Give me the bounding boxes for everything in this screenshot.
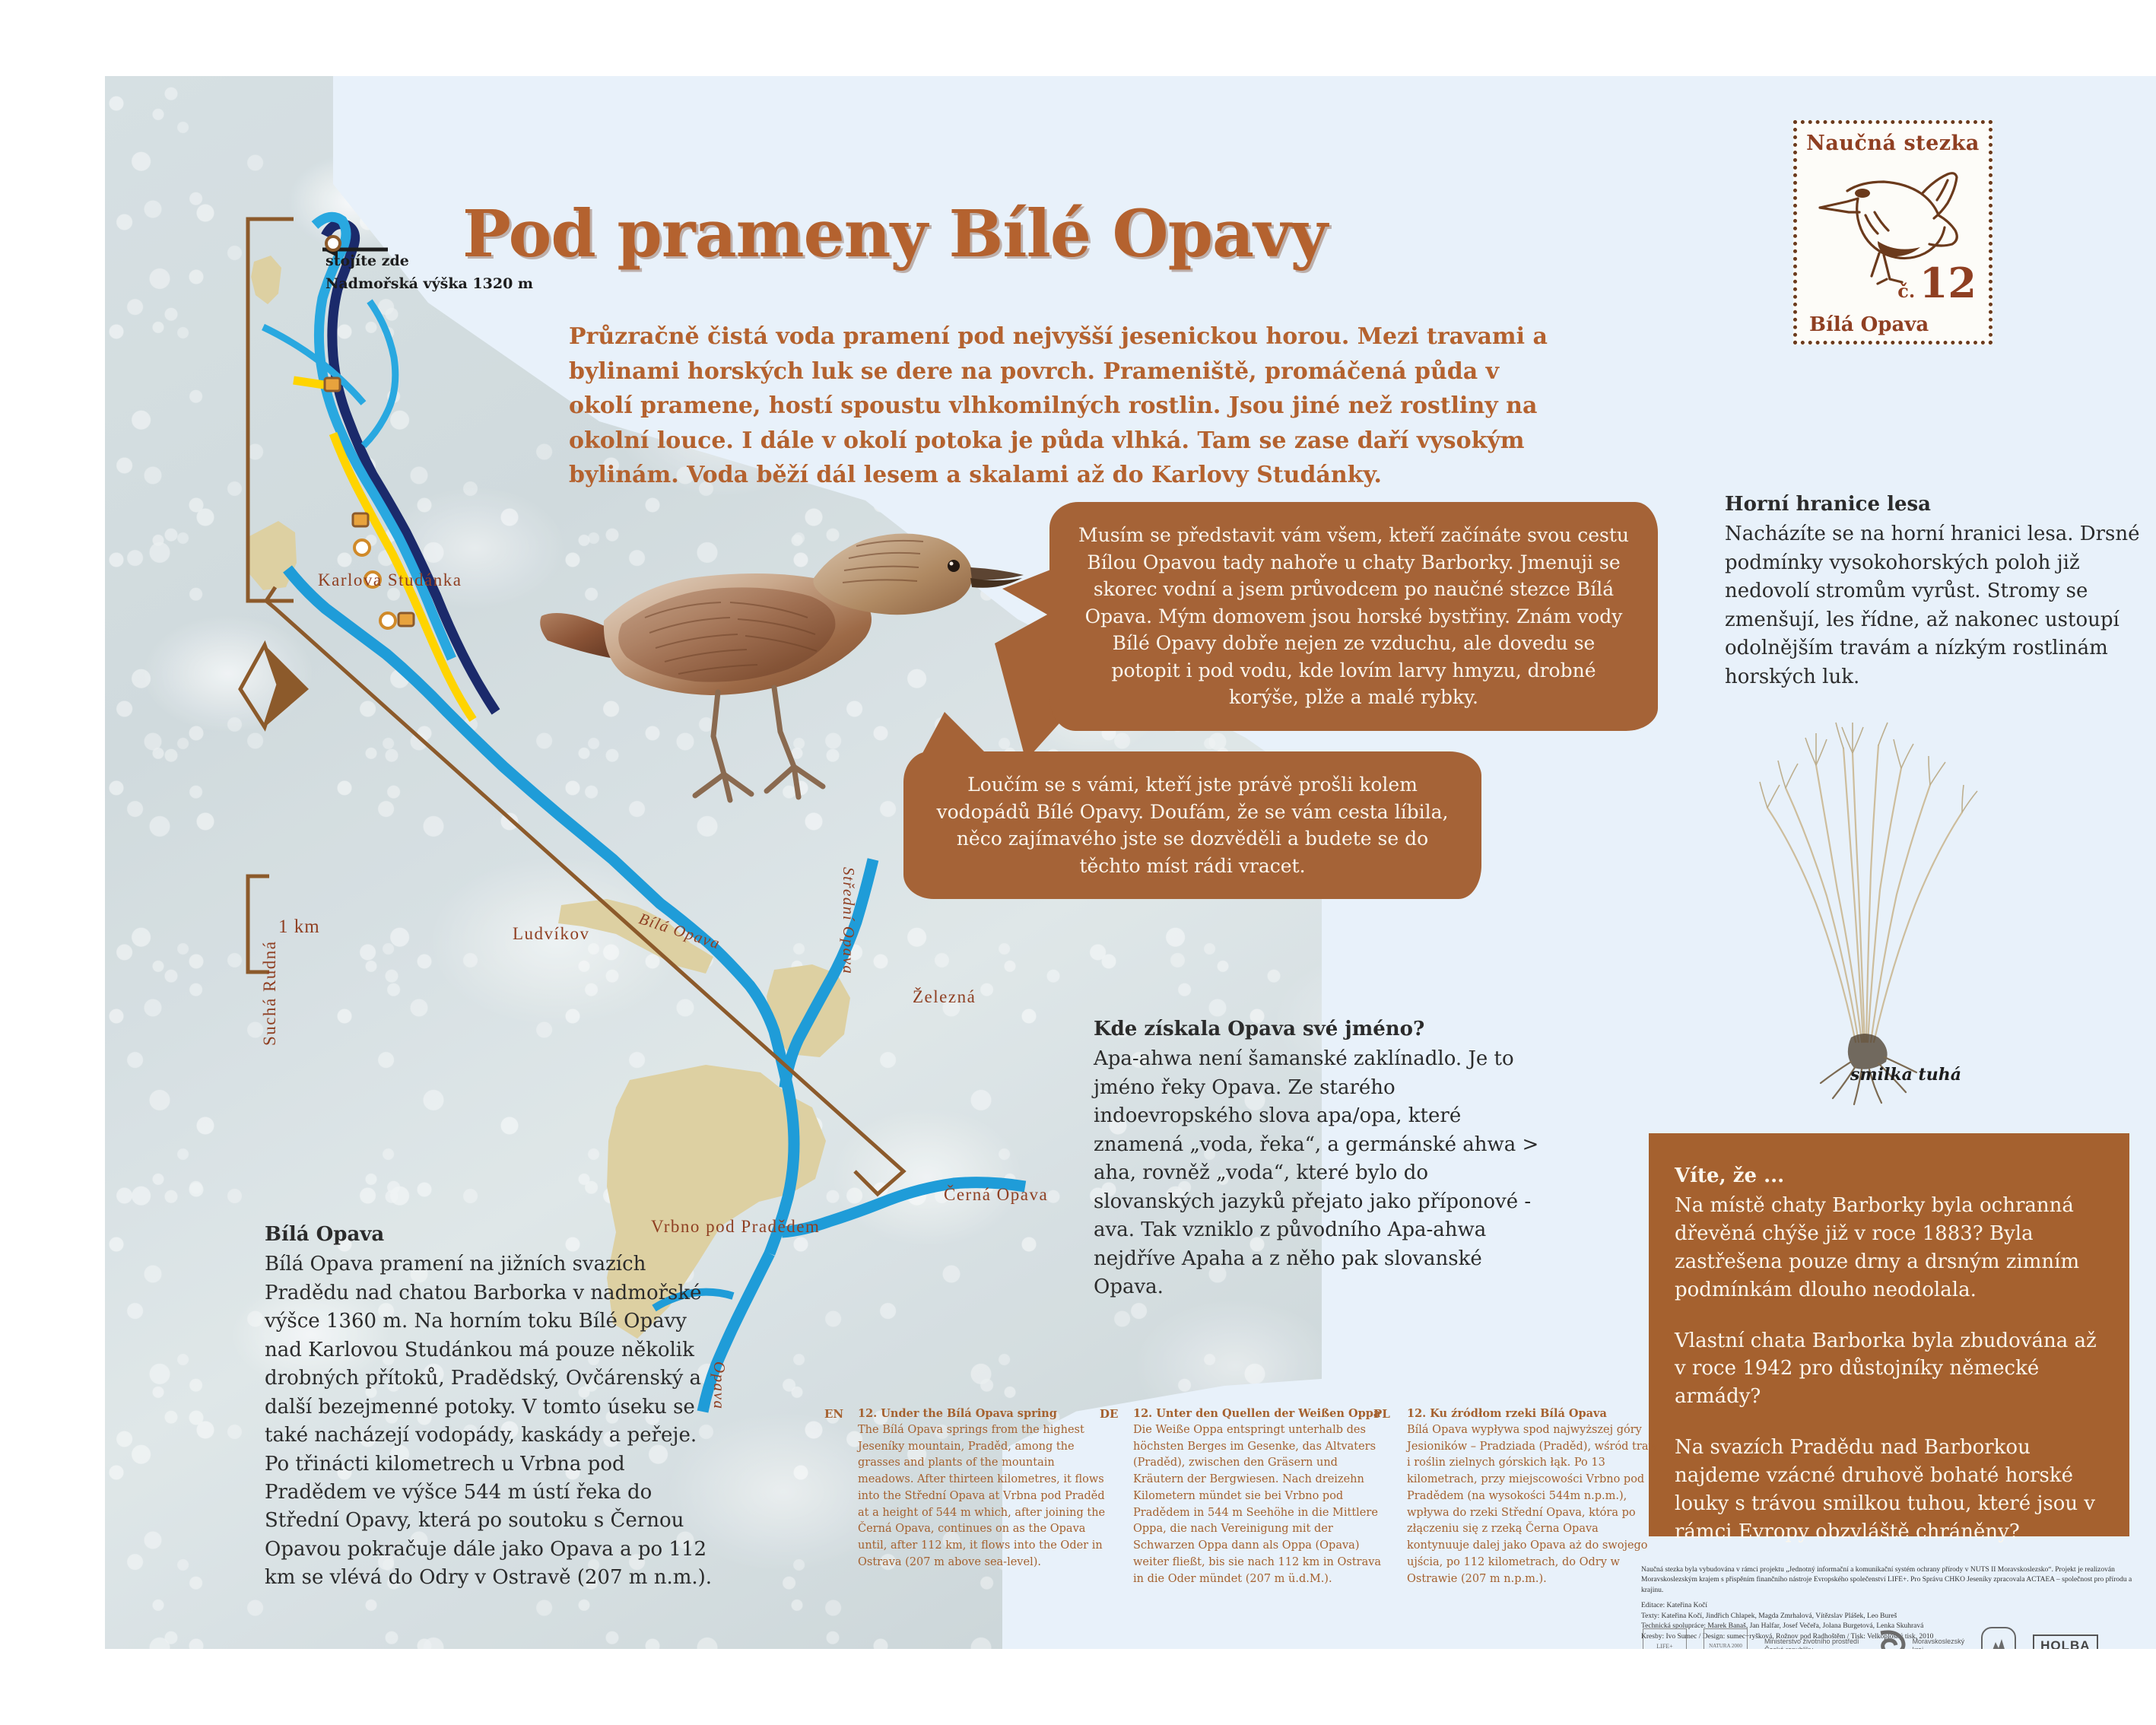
section-bila-opava: Bílá Opava Bílá Opava pramení na jižních… [265,1221,721,1593]
you-are-here-label: stojíte zde [325,253,409,269]
section-body: Nacházíte se na horní hranici lesa. Drsn… [1725,520,2151,691]
did-you-know-box: Víte, že ... Na místě chaty Barborky byl… [1649,1133,2129,1536]
natura-2000-logo: NATURA 2000 [1704,1628,1748,1649]
stamp-number-prefix: č. [1897,280,1915,302]
moravskoslezsky-kraj-logo: Moravskoslezský kraj [1876,1628,1965,1649]
did-you-know-paragraph-2: Vlastní chata Barborka byla zbudována až… [1675,1327,2104,1412]
translation-lang-code: DE [1100,1406,1118,1423]
map-river-stredni-opava: Střední Opava [839,867,858,974]
ministry-environment-logo-line1: Ministerstvo životního prostředí [1764,1638,1859,1646]
ministry-environment-logo: Ministerstvo životního prostředí České r… [1764,1638,1859,1649]
did-you-know-paragraph-3: Na svazích Pradědu nad Barborkou najdeme… [1675,1434,2104,1546]
bubble-farewell: Loučím se s vámi, kteří jste právě prošl… [903,751,1481,899]
did-you-know-heading: Víte, že ... [1675,1162,2104,1190]
bubble-farewell-tail [922,712,987,754]
section-body: Apa-ahwa není šamanské zaklínadlo. Je to… [1094,1045,1542,1301]
holba-logo: HOLBA [2033,1634,2097,1649]
life-plus-logo: LIFE+ [1643,1628,1687,1649]
moravskoslezsky-kraj-logo-line1: Moravskoslezský [1913,1638,1965,1646]
section-heading: Kde získala Opava své jméno? [1094,1015,1542,1044]
map-place-cerna-opava[interactable]: Černá Opava [944,1185,1048,1205]
translation-title: 12. Ku źródłom rzeki Bílá Opava [1407,1406,1658,1422]
trail-stamp: Naučná stezka č. 12 [1793,120,1992,345]
translation-title: 12. Under the Bílá Opava spring [858,1406,1109,1422]
section-kde-ziskala-opava-sve-jmeno: Kde získala Opava své jméno? Apa-ahwa ne… [1094,1015,1542,1301]
section-body: Bílá Opava pramení na jižních svazích Pr… [265,1250,721,1592]
map-place-sucha-rudna[interactable]: Suchá Rudná [260,940,280,1046]
translation-en: EN 12. Under the Bílá Opava spring The B… [858,1406,1109,1571]
section-horni-hranice-lesa: Horní hranice lesa Nacházíte se na horní… [1725,491,2151,691]
translation-body: The Bílá Opava springs from the highest … [858,1424,1105,1568]
credits-edit: Editace: Kateřina Kočí [1641,1601,2143,1611]
translation-body: Die Weiße Oppa entspringt unterhalb des … [1133,1424,1381,1585]
holba-logo-text: HOLBA [2033,1634,2097,1649]
stamp-top-label: Naučná stezka [1806,132,1980,155]
ministry-environment-logo-line2: České republiky [1764,1646,1859,1649]
translation-title: 12. Unter den Quellen der Weißen Oppa [1133,1406,1384,1422]
chko-jeseniky-logo [1981,1627,2016,1649]
map-place-karlova-studanka[interactable]: Karlova Studánka [318,570,462,590]
sponsor-logos: LIFE+ NATURA 2000 Ministerstvo životního… [1643,1619,2145,1649]
life-plus-logo-box: LIFE+ [1643,1628,1687,1649]
page-title: Pod prameny Bílé Opavy [462,196,1327,272]
translation-de: DE 12. Unter den Quellen der Weißen Oppa… [1133,1406,1384,1587]
translation-lang-code: PL [1373,1406,1390,1423]
credits-project: Naučná stezka byla vybudována v rámci pr… [1641,1565,2143,1596]
stamp-number-value: 12 [1919,259,1977,307]
natura-2000-logo-box: NATURA 2000 [1704,1628,1748,1649]
moravskoslezsky-kraj-mark-icon [1876,1628,1908,1649]
section-heading: Horní hranice lesa [1725,491,2151,519]
map-scale-label: 1 km [278,917,320,938]
chko-jeseniky-logo-mark-icon [1981,1627,2016,1649]
did-you-know-paragraph-1: Na místě chaty Barborky byla ochranná dř… [1675,1192,2104,1304]
translation-body: Bílá Opava wypływa spod najwyższej góry … [1407,1424,1658,1585]
stamp-number: č. 12 [1897,259,1977,307]
plant-label: smilka tuhá [1850,1065,1961,1085]
bubble-intro: Musím se představit vám všem, kteří začí… [1049,502,1658,731]
stamp-bottom-label: Bílá Opava [1809,313,1929,336]
map-place-ludvikov[interactable]: Ludvíkov [513,924,589,944]
section-heading: Bílá Opava [265,1221,721,1249]
intro-paragraph: Průzračně čistá voda pramení pod nejvyšš… [569,319,1557,493]
bubble-farewell-text: Loučím se s vámi, kteří jste právě prošl… [937,774,1449,877]
bubble-intro-text: Musím se představit vám všem, kteří začí… [1078,524,1629,708]
translation-pl: PL 12. Ku źródłom rzeki Bílá Opava Bílá … [1407,1406,1658,1587]
map-place-zelezna[interactable]: Železná [913,987,976,1007]
information-panel: stojíte zde Nadmořská výška 1320 m Karlo… [105,76,2156,1649]
grass-tuft-icon [1710,715,2029,1110]
altitude-label: Nadmořská výška 1320 m [325,275,533,292]
translation-lang-code: EN [824,1406,843,1423]
moravskoslezsky-kraj-logo-line2: kraj [1913,1646,1965,1649]
bubble-intro-tail [1002,569,1053,618]
